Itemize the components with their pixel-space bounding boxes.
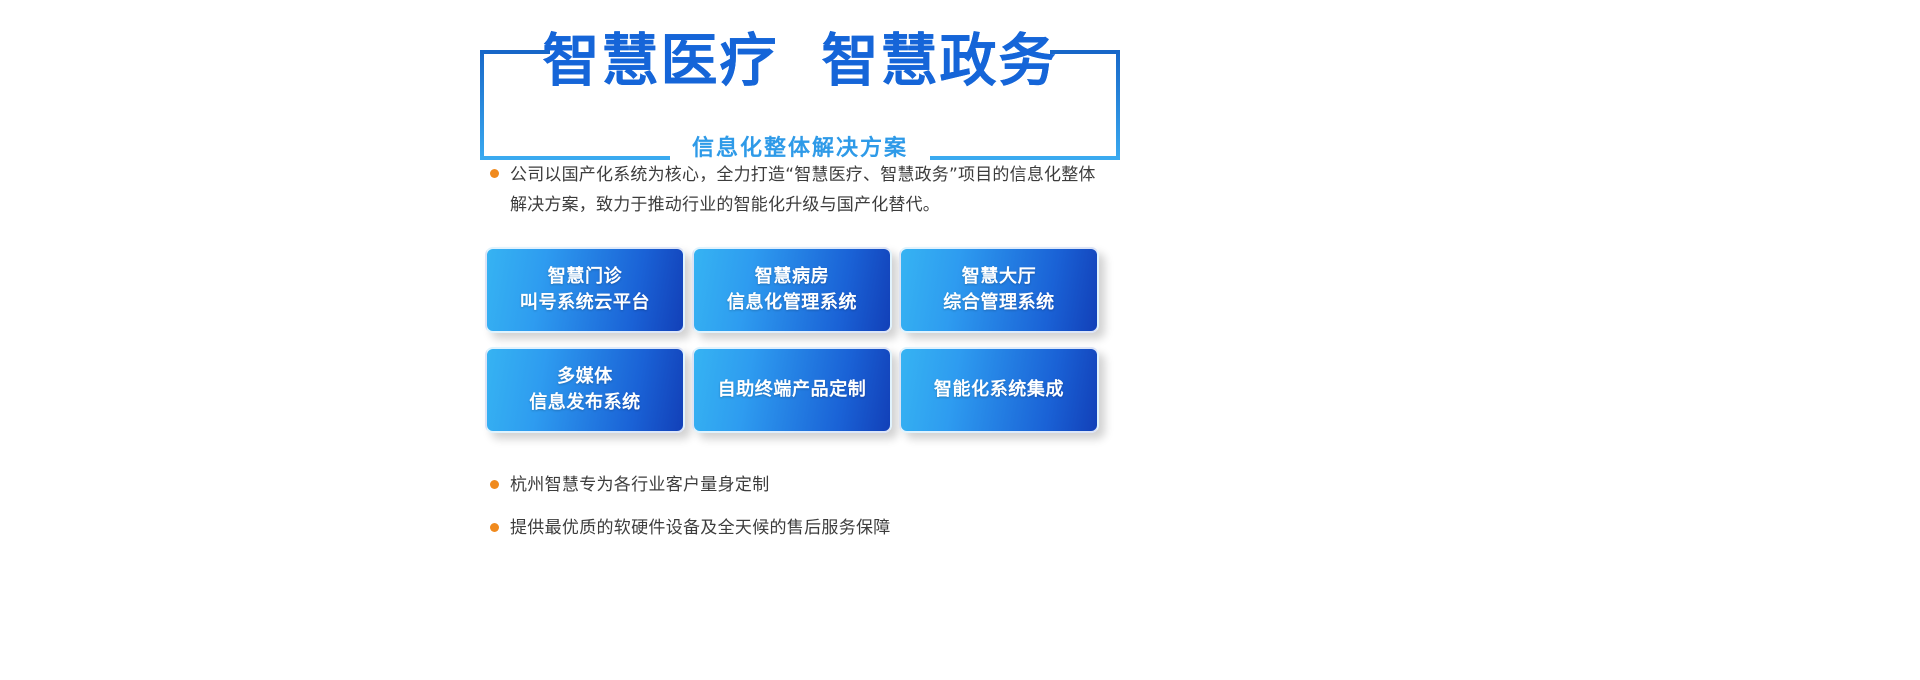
footnote-list: 杭州智慧专为各行业客户量身定制 提供最优质的软硬件设备及全天候的售后服务保障 <box>490 472 1110 558</box>
page-root: 智慧医疗 智慧政务 信息化整体解决方案 公司以国产化系统为核心，全力打造“智慧医… <box>0 0 1920 680</box>
intro-paragraph: 公司以国产化系统为核心，全力打造“智慧医疗、智慧政务”项目的信息化整体解决方案，… <box>490 160 1110 220</box>
solution-card[interactable]: 智慧病房 信息化管理系统 <box>692 247 892 333</box>
orange-dot-icon <box>490 480 499 489</box>
footnote-text: 提供最优质的软硬件设备及全天候的售后服务保障 <box>510 515 891 541</box>
page-subtitle-row: 信息化整体解决方案 <box>480 130 1120 160</box>
footnote-text: 杭州智慧专为各行业客户量身定制 <box>510 472 770 498</box>
solution-card-label: 多媒体 信息发布系统 <box>529 364 641 416</box>
solution-card[interactable]: 智慧大厅 综合管理系统 <box>899 247 1099 333</box>
intro-paragraph-text: 公司以国产化系统为核心，全力打造“智慧医疗、智慧政务”项目的信息化整体解决方案，… <box>510 160 1110 220</box>
solution-card-label: 智慧大厅 综合管理系统 <box>943 264 1055 316</box>
page-title-part-1: 智慧医疗 <box>543 32 779 92</box>
solution-card[interactable]: 多媒体 信息发布系统 <box>485 347 685 433</box>
solution-card-label: 智慧病房 信息化管理系统 <box>727 264 857 316</box>
solution-card-label: 自助终端产品定制 <box>718 377 867 403</box>
page-title-part-2: 智慧政务 <box>821 32 1057 92</box>
solution-card[interactable]: 自助终端产品定制 <box>692 347 892 433</box>
solution-card-label: 智能化系统集成 <box>934 377 1064 403</box>
header-block: 智慧医疗 智慧政务 信息化整体解决方案 <box>480 22 1120 147</box>
content-column: 智慧医疗 智慧政务 信息化整体解决方案 公司以国产化系统为核心，全力打造“智慧医… <box>480 0 1440 680</box>
orange-dot-icon <box>490 523 499 532</box>
list-item: 杭州智慧专为各行业客户量身定制 <box>490 472 1110 498</box>
solution-card-label: 智慧门诊 叫号系统云平台 <box>520 264 650 316</box>
page-subtitle: 信息化整体解决方案 <box>678 130 922 162</box>
solution-card[interactable]: 智能化系统集成 <box>899 347 1099 433</box>
solution-card[interactable]: 智慧门诊 叫号系统云平台 <box>485 247 685 333</box>
page-title: 智慧医疗 智慧政务 <box>480 32 1120 92</box>
solution-card-grid: 智慧门诊 叫号系统云平台 智慧病房 信息化管理系统 智慧大厅 综合管理系统 多媒… <box>485 247 1105 433</box>
orange-dot-icon <box>490 169 499 178</box>
list-item: 提供最优质的软硬件设备及全天候的售后服务保障 <box>490 515 1110 541</box>
